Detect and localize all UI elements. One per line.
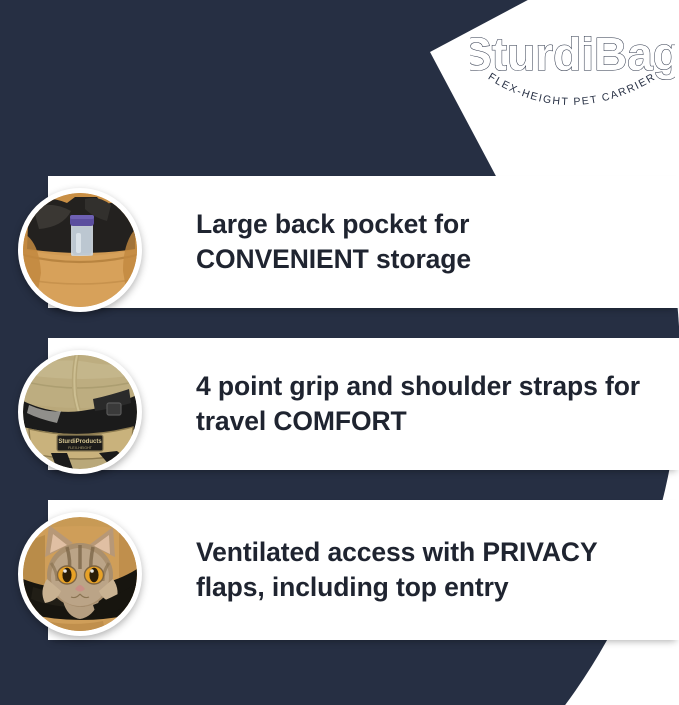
photo-cat-top-entry: [18, 512, 142, 636]
feature-card-grip-straps: 4 point grip and shoulder straps for tra…: [48, 338, 679, 470]
photo-back-pocket-with-water-bottle: [18, 188, 142, 312]
feature-line-1: Large back pocket for: [196, 207, 471, 242]
svg-text:SturdiProducts: SturdiProducts: [58, 439, 102, 445]
photo-clip: SturdiProducts FLEX-HEIGHT: [23, 355, 137, 469]
feature-line-1: Ventilated access with PRIVACY: [196, 535, 598, 570]
feature-line-2: flaps, including top entry: [196, 570, 598, 605]
feature-card-back-pocket: Large back pocket for CONVENIENT storage: [48, 176, 679, 308]
feature-text-ventilated-privacy: Ventilated access with PRIVACY flaps, in…: [196, 535, 626, 605]
infographic-canvas: SturdiBag FLEX-HEIGHT PET CARRIER Large …: [0, 0, 679, 705]
feature-card-ventilated-privacy: Ventilated access with PRIVACY flaps, in…: [48, 500, 679, 640]
feature-line-2: CONVENIENT storage: [196, 242, 471, 277]
logo-wordmark: SturdiBag: [470, 28, 675, 80]
feature-line-1: 4 point grip and shoulder straps for: [196, 369, 640, 404]
photo-clip: [23, 193, 137, 307]
feature-line-2: travel COMFORT: [196, 404, 640, 439]
feature-text-grip-straps: 4 point grip and shoulder straps for tra…: [196, 369, 668, 439]
feature-text-back-pocket: Large back pocket for CONVENIENT storage: [196, 207, 499, 277]
svg-text:FLEX-HEIGHT: FLEX-HEIGHT: [68, 446, 93, 450]
photo-shoulder-strap-pad: SturdiProducts FLEX-HEIGHT: [18, 350, 142, 474]
photo-clip: [23, 517, 137, 631]
sturdibag-logo: SturdiBag FLEX-HEIGHT PET CARRIER: [470, 6, 675, 118]
